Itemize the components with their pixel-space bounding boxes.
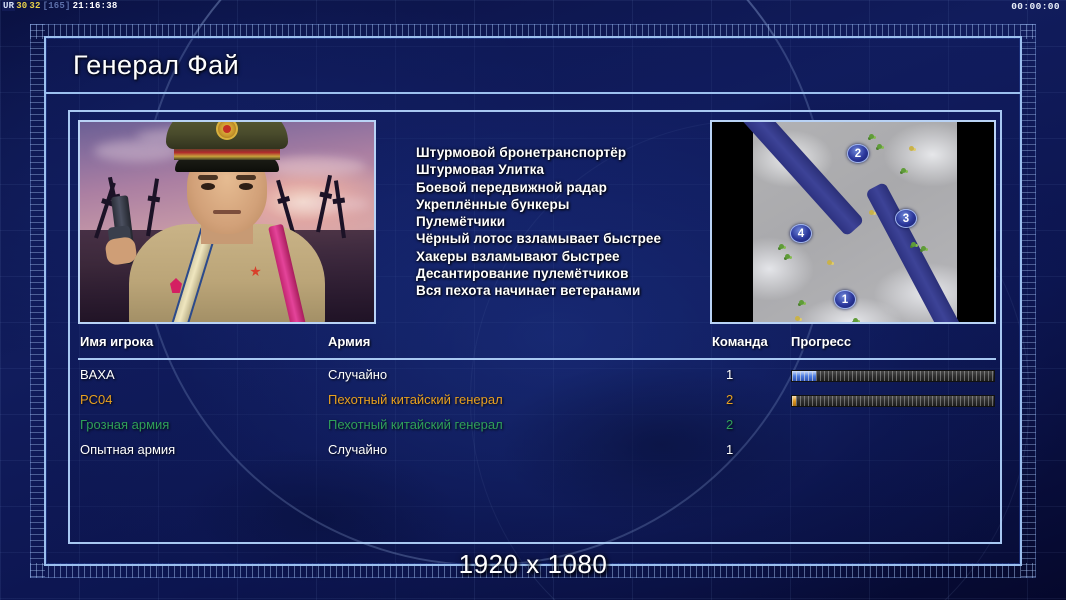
player-army[interactable]: Случайно xyxy=(328,442,387,457)
hud-stat-b: 32 xyxy=(28,1,41,11)
portrait-mouth xyxy=(213,210,241,214)
ruler-decoration-right xyxy=(1021,24,1036,578)
player-team[interactable]: 2 xyxy=(726,417,733,432)
column-header-progress: Прогресс xyxy=(791,334,851,349)
player-name: BAXA xyxy=(80,367,115,382)
minimap-spawn-3[interactable]: 3 xyxy=(895,209,917,228)
spawn-label: 3 xyxy=(903,213,909,225)
table-row[interactable]: BAXA Случайно 1 xyxy=(78,364,996,389)
hud-stat-time: 21:16:38 xyxy=(72,1,119,11)
ability-item: Десантирование пулемётчиков xyxy=(416,265,710,282)
minimap-tree-icon xyxy=(901,168,906,173)
column-header-army: Армия xyxy=(328,334,370,349)
spawn-label: 2 xyxy=(855,148,861,160)
game-screen: UR3032[165]21:16:38 00:00:00 Генерал Фай xyxy=(0,0,1066,600)
portrait-brow xyxy=(198,175,218,180)
table-row[interactable]: Грозная армия Пехотный китайский генерал… xyxy=(78,414,996,439)
player-name: Опытная армия xyxy=(80,442,175,457)
player-army[interactable]: Случайно xyxy=(328,367,387,382)
minimap-tree-icon xyxy=(921,246,926,251)
ability-item: Штурмовой бронетранспортёр xyxy=(416,144,710,161)
resolution-overlay: 1920 x 1080 xyxy=(0,549,1066,580)
player-team[interactable]: 2 xyxy=(726,392,733,407)
table-header-divider xyxy=(78,358,996,360)
minimap-river xyxy=(865,182,965,324)
hud-stats-overlay: UR3032[165]21:16:38 xyxy=(2,1,118,11)
progress-segments xyxy=(792,396,994,406)
table-row[interactable]: Опытная армия Случайно 1 xyxy=(78,439,996,464)
ability-item: Боевой передвижной радар xyxy=(416,179,710,196)
minimap-tree-icon xyxy=(785,254,790,259)
portrait-strap xyxy=(268,224,307,324)
player-name: Грозная армия xyxy=(80,417,169,432)
portrait-medal xyxy=(170,278,182,293)
player-team[interactable]: 1 xyxy=(726,442,733,457)
minimap-resource-icon xyxy=(869,210,874,215)
ability-item: Хакеры взламывают быстрее xyxy=(416,248,710,265)
minimap-tree-icon xyxy=(911,242,916,247)
minimap-spawn-4[interactable]: 4 xyxy=(790,224,812,243)
minimap-resource-icon xyxy=(827,260,832,265)
hud-stat-paren: [165] xyxy=(42,1,72,11)
ability-item: Укреплённые бункеры xyxy=(416,196,710,213)
portrait-eye xyxy=(239,183,253,190)
minimap-terrain: 2 3 4 1 xyxy=(753,122,957,324)
portrait-cloud xyxy=(266,156,366,176)
hud-stat-label: UR xyxy=(2,1,15,11)
lobby-panel: Генерал Фай xyxy=(44,36,1022,566)
minimap[interactable]: 2 3 4 1 xyxy=(710,120,996,324)
ability-item: Штурмовая Улитка xyxy=(416,161,710,178)
ruler-decoration-left xyxy=(30,24,45,578)
player-progress-bar xyxy=(791,395,995,407)
player-progress-bar xyxy=(791,370,995,382)
player-name: PC04 xyxy=(80,392,113,407)
ability-item: Чёрный лотос взламывает быстрее xyxy=(416,230,710,247)
content-frame: Штурмовой бронетранспортёр Штурмовая Ули… xyxy=(68,110,1002,544)
player-army[interactable]: Пехотный китайский генерал xyxy=(328,417,503,432)
minimap-resource-icon xyxy=(909,146,914,151)
player-army[interactable]: Пехотный китайский генерал xyxy=(328,392,503,407)
general-info-row: Штурмовой бронетранспортёр Штурмовая Ули… xyxy=(78,120,996,324)
minimap-tree-icon xyxy=(799,300,804,305)
hud-timer: 00:00:00 xyxy=(1011,1,1060,12)
player-table-header: Имя игрока Армия Команда Прогресс xyxy=(78,334,996,356)
portrait-eye xyxy=(201,183,215,190)
minimap-tree-icon xyxy=(779,244,784,249)
player-team[interactable]: 1 xyxy=(726,367,733,382)
minimap-tree-icon xyxy=(869,134,874,139)
spawn-label: 1 xyxy=(842,294,848,306)
column-header-team: Команда xyxy=(712,334,768,349)
ability-item: Вся пехота начинает ветеранами xyxy=(416,282,710,299)
player-table-body: BAXA Случайно 1 PC04 Пехотный китайский … xyxy=(78,364,996,464)
minimap-spawn-1[interactable]: 1 xyxy=(834,290,856,309)
minimap-spawn-2[interactable]: 2 xyxy=(847,144,869,163)
minimap-tree-icon xyxy=(877,144,882,149)
portrait-medal xyxy=(250,266,261,277)
portrait-brow xyxy=(236,175,256,180)
spawn-label: 4 xyxy=(798,228,804,240)
hud-stat-a: 30 xyxy=(15,1,28,11)
table-row[interactable]: PC04 Пехотный китайский генерал 2 xyxy=(78,389,996,414)
page-title: Генерал Фай xyxy=(46,38,1020,94)
general-portrait xyxy=(78,120,376,324)
column-header-name: Имя игрока xyxy=(80,334,153,349)
minimap-resource-icon xyxy=(795,316,800,321)
progress-segments xyxy=(792,371,994,381)
minimap-river xyxy=(729,120,865,237)
general-abilities-list: Штурмовой бронетранспортёр Штурмовая Ули… xyxy=(376,120,710,324)
ability-item: Пулемётчики xyxy=(416,213,710,230)
minimap-tree-icon xyxy=(853,318,858,323)
